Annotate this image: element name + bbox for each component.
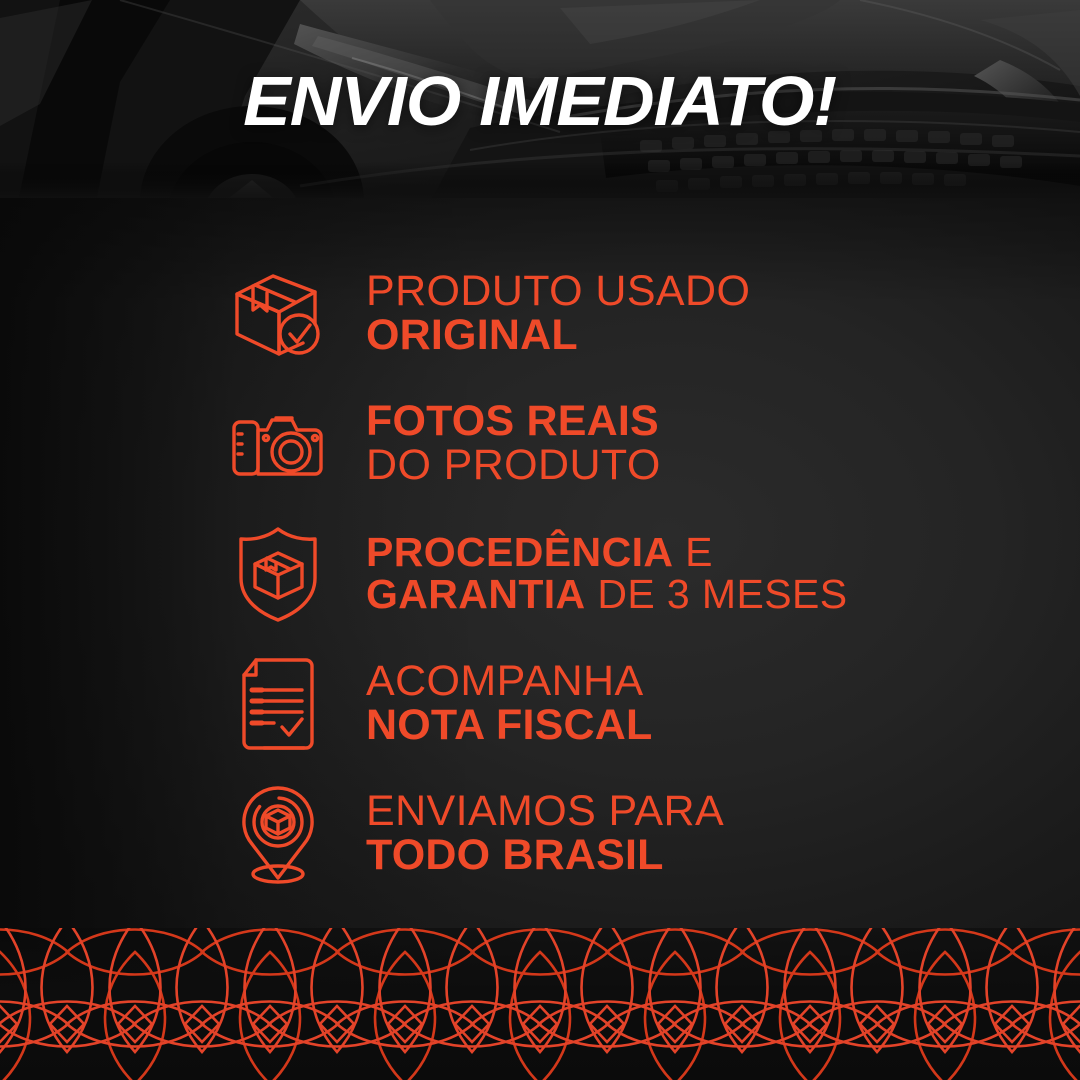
- promotional-banner: ENVIO IMEDIATO! PRODUTO USADO: [0, 0, 1080, 1080]
- header-section: ENVIO IMEDIATO!: [0, 0, 1080, 202]
- lens-ornament-svg: [0, 928, 1080, 1080]
- feature-item-procedencia-garantia: PROCEDÊNCIA E GARANTIA DE 3 MESES: [228, 518, 1068, 630]
- feature-text: ACOMPANHA NOTA FISCAL: [366, 660, 652, 748]
- camera-icon: [228, 394, 328, 494]
- feature-item-fotos-reais: FOTOS REAIS DO PRODUTO: [228, 388, 1068, 500]
- feature-line-2: ORIGINAL: [366, 314, 750, 358]
- shield-box-icon: [228, 524, 328, 624]
- feature-line-1-light: E: [673, 529, 713, 575]
- header-title-text: ENVIO IMEDIATO!: [244, 66, 837, 136]
- feature-line-2-light: DE 3 MESES: [586, 571, 848, 617]
- feature-list: PRODUTO USADO ORIGINAL FOTOS REAIS: [228, 258, 1068, 890]
- feature-line-1: PRODUTO USADO: [366, 270, 750, 314]
- feature-line-1: ENVIAMOS PARA: [366, 790, 724, 834]
- footer-ornament-pattern: [0, 928, 1080, 1080]
- feature-item-nota-fiscal: ACOMPANHA NOTA FISCAL: [228, 648, 1068, 760]
- feature-line-2: GARANTIA DE 3 MESES: [366, 574, 847, 616]
- feature-line-1-bold: PROCEDÊNCIA: [366, 529, 673, 575]
- page-title: ENVIO IMEDIATO!: [0, 0, 1080, 202]
- package-box-check-icon: [228, 264, 328, 364]
- feature-item-produto-original: PRODUTO USADO ORIGINAL: [228, 258, 1068, 370]
- feature-line-2-bold: GARANTIA: [366, 571, 586, 617]
- feature-line-2: NOTA FISCAL: [366, 704, 652, 748]
- feature-text: PRODUTO USADO ORIGINAL: [366, 270, 750, 358]
- feature-text: FOTOS REAIS DO PRODUTO: [366, 400, 661, 488]
- location-pin-box-icon: [228, 784, 328, 884]
- feature-line-2: DO PRODUTO: [366, 444, 661, 488]
- feature-line-1: ACOMPANHA: [366, 660, 652, 704]
- feature-line-2: TODO BRASIL: [366, 834, 724, 878]
- feature-line-1: PROCEDÊNCIA E: [366, 532, 847, 574]
- feature-text: ENVIAMOS PARA TODO BRASIL: [366, 790, 724, 878]
- feature-item-todo-brasil: ENVIAMOS PARA TODO BRASIL: [228, 778, 1068, 890]
- invoice-document-check-icon: [228, 654, 328, 754]
- feature-text: PROCEDÊNCIA E GARANTIA DE 3 MESES: [366, 532, 847, 616]
- feature-line-1: FOTOS REAIS: [366, 400, 661, 444]
